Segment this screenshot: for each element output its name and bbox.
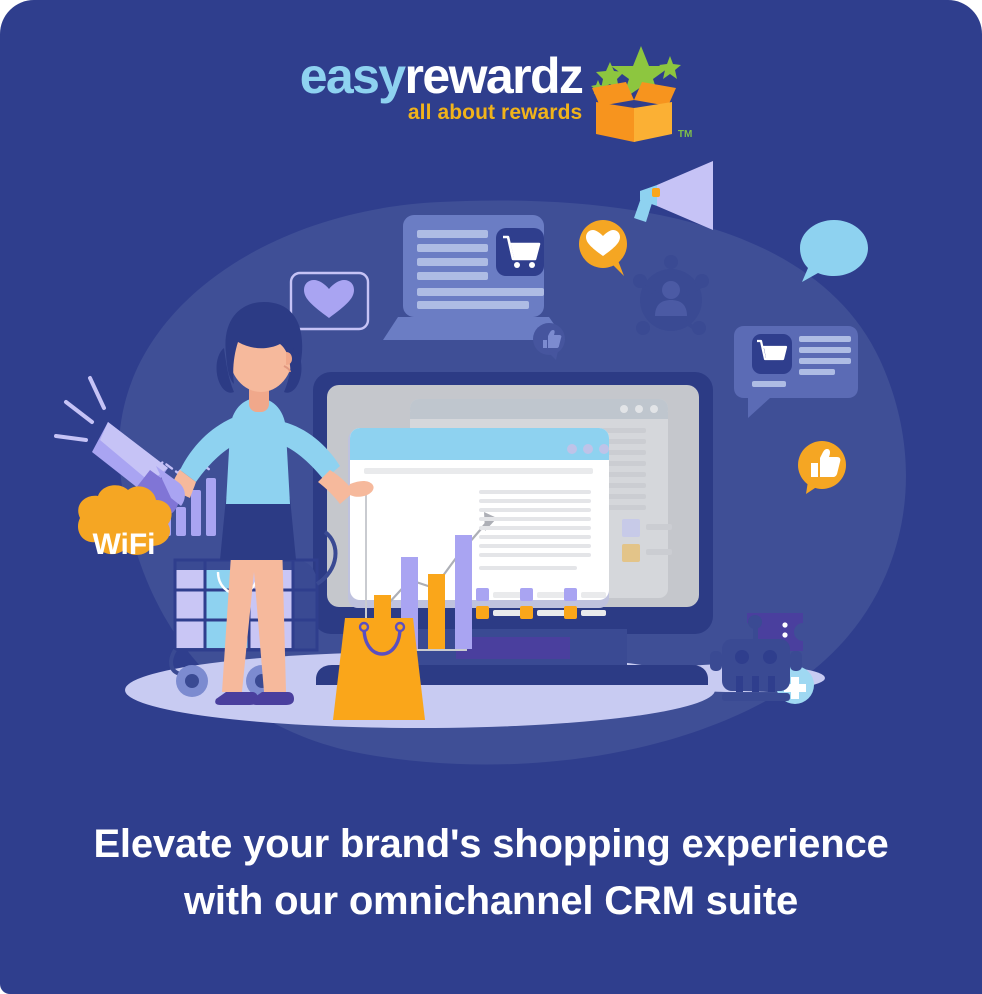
bar-3 (428, 574, 445, 649)
wifi-label: WiFi (92, 528, 155, 561)
promo-poster: easyrewardz all about rewards TM (0, 0, 982, 994)
logo-word-easy: easy (300, 48, 405, 104)
brand-logo: easyrewardz all about rewards TM (0, 44, 982, 144)
headline-line-2: with our omnichannel CRM suite (0, 873, 982, 930)
megaphone-sound-lines (56, 378, 104, 440)
speech-bubble-icon (800, 220, 868, 282)
logo-wordmark: easyrewardz all about rewards (300, 44, 583, 125)
bar-4 (455, 535, 472, 649)
logo-subtitle: all about rewards (300, 101, 583, 125)
headline-line-1: Elevate your brand's shopping experience (93, 822, 888, 866)
trademark-mark: TM (678, 129, 692, 140)
logo-word-rewardz: rewardz (405, 48, 583, 104)
logo-wordmark-main: easyrewardz (300, 52, 583, 100)
hero-illustration: WiFi (0, 140, 982, 800)
gift-box-icon: TM (586, 44, 682, 144)
headline: Elevate your brand's shopping experience… (0, 816, 982, 930)
shopping-bag-icon (333, 618, 425, 720)
laptop-cart-icon (383, 215, 565, 340)
window-dots (567, 444, 609, 454)
dashboard-window (348, 428, 609, 650)
